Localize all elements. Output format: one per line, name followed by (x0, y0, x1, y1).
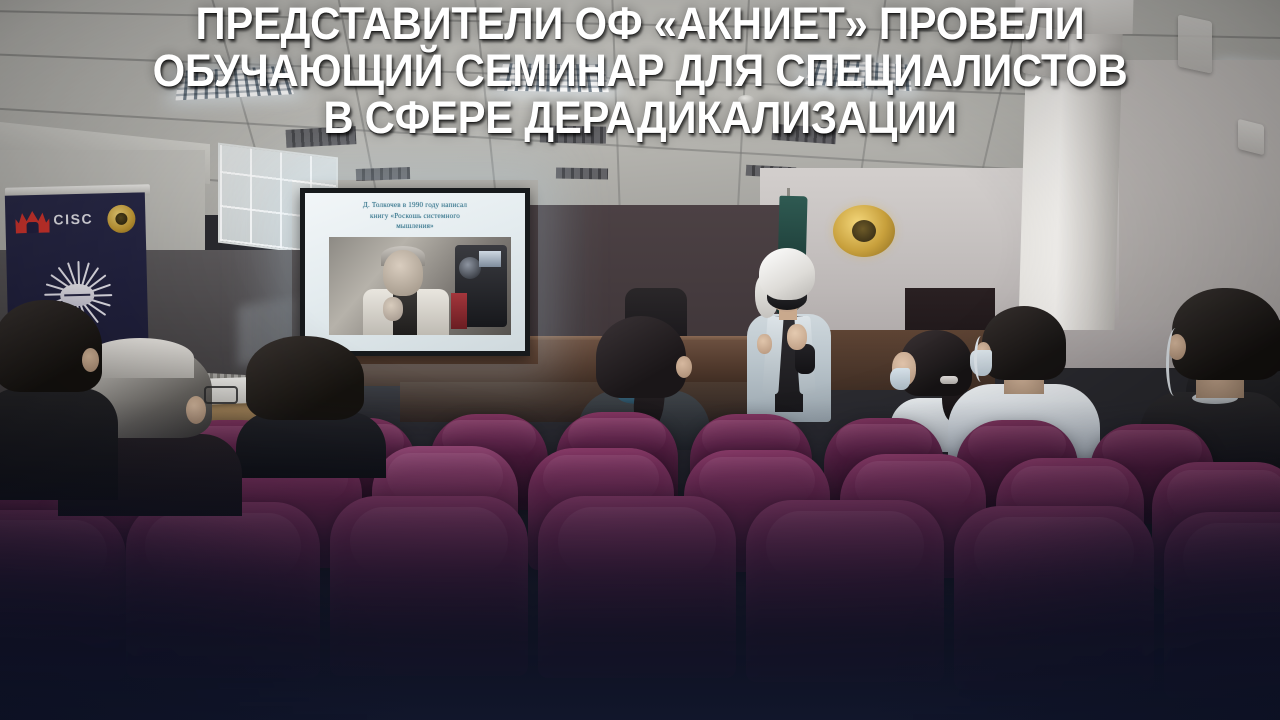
ceiling-vent (356, 167, 410, 181)
slide-line-2: книгу «Роскошь системного (370, 212, 460, 220)
camera-lens-icon (459, 257, 481, 279)
wall-speaker (1022, 25, 1068, 79)
state-emblem-core (852, 220, 876, 242)
audience-hair (596, 316, 686, 398)
speaker-hand-right (787, 324, 807, 350)
slide-title: Д. Толкочев в 1990 году написал книгу «Р… (312, 200, 518, 232)
theater-seat (954, 506, 1154, 690)
speaker-headscarf (759, 248, 815, 300)
theater-seat (746, 500, 944, 682)
slide-line-1: Д. Толкочев в 1990 году написал (363, 201, 467, 209)
projection-screen-surface: Д. Толкочев в 1990 году написал книгу «Р… (305, 193, 525, 351)
audience-ear (676, 356, 692, 378)
camera-screen (479, 251, 501, 267)
ceiling-vent (286, 126, 357, 148)
theater-seat (330, 496, 528, 676)
mask-ear-loop (1166, 328, 1184, 396)
audience-hair (982, 306, 1066, 380)
cisc-logo-text: CISC (53, 211, 93, 228)
slide-photo-hand (383, 297, 403, 321)
audience-hair (1172, 288, 1280, 380)
news-photo-stage: Д. Толкочев в 1990 году написал книгу «Р… (0, 0, 1280, 720)
audience-body (236, 412, 386, 478)
theater-seat (0, 510, 126, 680)
face-mask-icon (890, 368, 910, 390)
speaker-presenter (735, 248, 843, 423)
audience-front-center-man (236, 336, 386, 476)
cisc-logo-icon (15, 209, 50, 236)
smoke-detector-icon (738, 95, 754, 104)
audience-ear (186, 396, 206, 424)
audience-hair (246, 336, 364, 420)
slide-photo-head (383, 250, 423, 296)
audience-body (0, 388, 118, 500)
far-right-wall (1119, 60, 1280, 320)
theater-seat (538, 496, 736, 678)
slide-line-3: мышления» (396, 222, 434, 230)
wall-speaker (1178, 14, 1212, 73)
audience-hair (0, 300, 102, 392)
cisc-crown-cutout (26, 222, 38, 233)
slide-photo-red-object (451, 293, 467, 329)
speaker-hand-left (757, 334, 772, 354)
ceiling-light-panel (175, 66, 294, 100)
wall-speaker (1238, 119, 1264, 155)
audience-ear (82, 348, 99, 372)
slide-photo (329, 237, 511, 335)
ceiling-vent (556, 168, 608, 180)
theater-seat (126, 502, 320, 678)
ceiling-light-panel (497, 63, 609, 92)
mask-ear-loop (974, 336, 988, 382)
glasses-icon (204, 386, 238, 404)
ceiling-vent (540, 125, 606, 143)
projection-screen: Д. Толкочев в 1990 году написал книгу «Р… (300, 188, 530, 356)
audience-front-left-man (0, 300, 118, 500)
theater-seat (1164, 512, 1280, 698)
ceiling-vent (772, 124, 837, 144)
